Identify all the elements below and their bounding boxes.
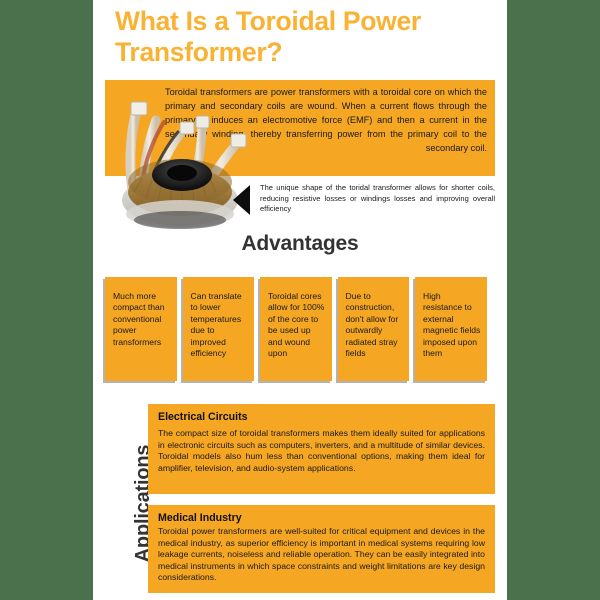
page-title: What Is a Toroidal Power Transformer? [115, 6, 495, 68]
intro-panel: Toroidal transformers are power transfor… [105, 80, 495, 176]
application-body: Toroidal power transformers are well-sui… [158, 526, 485, 584]
intro-paragraph: Toroidal transformers are power transfor… [165, 85, 487, 155]
advantage-card: Due to construction, don't allow for out… [338, 277, 410, 381]
advantages-row: Much more compact than conventional powe… [105, 277, 497, 381]
application-section-medical-industry: Medical Industry Toroidal power transfor… [148, 505, 495, 593]
application-title: Electrical Circuits [158, 411, 485, 423]
application-title: Medical Industry [158, 512, 485, 524]
advantage-card: Toroidal cores allow for 100% of the cor… [260, 277, 332, 381]
advantages-heading: Advantages [93, 232, 507, 256]
application-body: The compact size of toroidal transformer… [158, 428, 485, 474]
advantage-card: Can translate to lower temperatures due … [183, 277, 255, 381]
infographic-page: What Is a Toroidal Power Transformer? To… [93, 0, 507, 600]
caption-text: The unique shape of the toridal transfor… [260, 183, 495, 215]
caption: The unique shape of the toridal transfor… [233, 183, 495, 215]
advantage-card: Much more compact than conventional powe… [105, 277, 177, 381]
left-triangle-icon [233, 185, 250, 215]
application-section-electrical-circuits: Electrical Circuits The compact size of … [148, 404, 495, 494]
advantage-card: High resistance to external magnetic fie… [415, 277, 487, 381]
